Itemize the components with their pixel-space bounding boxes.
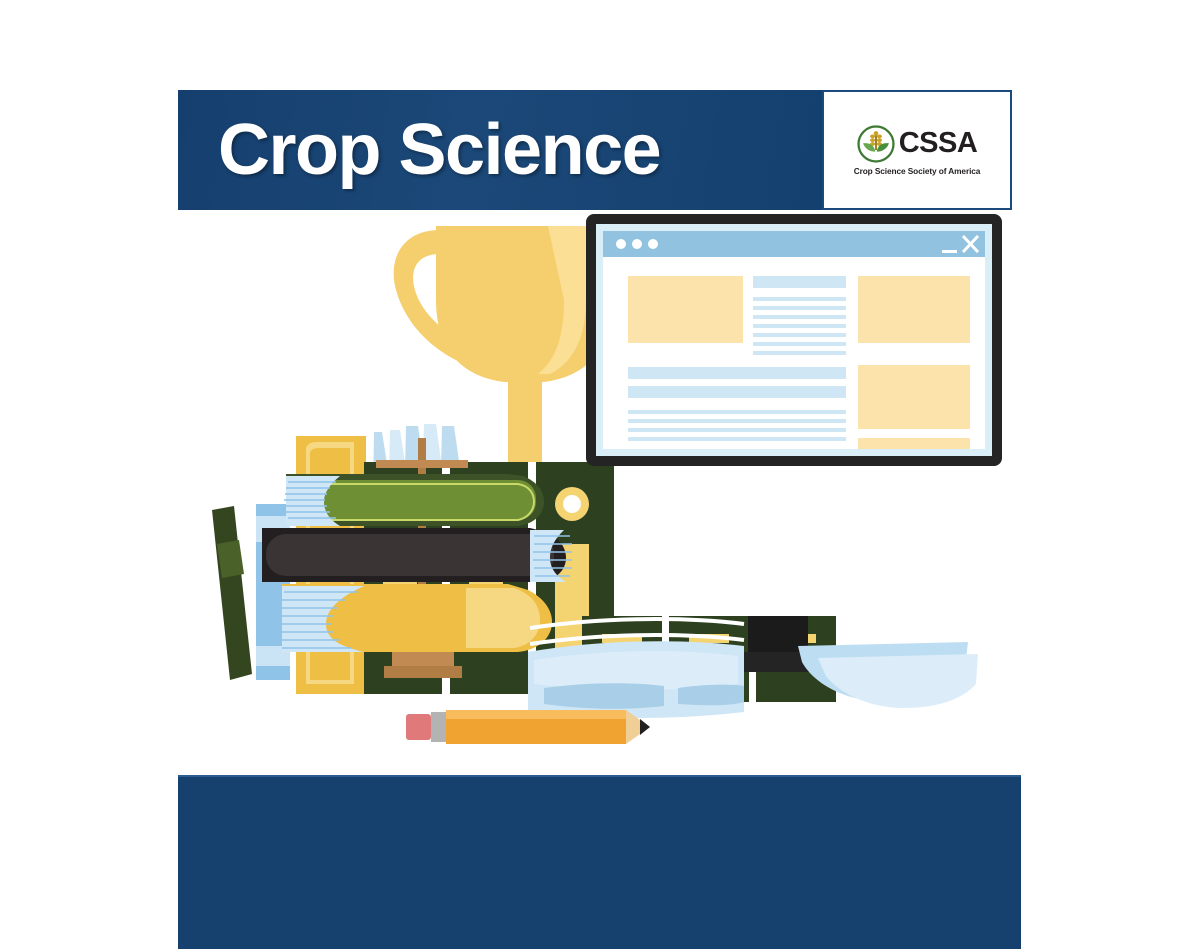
- cssa-logo-row: CSSA: [857, 125, 978, 163]
- content-block-image-3: [858, 365, 970, 429]
- cssa-logo: CSSA Crop Science Society of America: [854, 125, 981, 176]
- stacked-books: [262, 474, 572, 652]
- awards-desk-illustration: [178, 214, 1022, 762]
- content-block-image-2: [858, 276, 970, 343]
- window-dots: [616, 239, 658, 249]
- wheat-and-leaves-circle-icon: [857, 125, 895, 163]
- cssa-tagline: Crop Science Society of America: [854, 166, 981, 176]
- computer-monitor: [586, 214, 1002, 672]
- journal-header-bar: Crop Science: [178, 90, 822, 210]
- pencil-icon: [406, 710, 650, 744]
- footer-band: [178, 775, 1021, 949]
- cssa-acronym: CSSA: [899, 129, 978, 158]
- content-block-image-4: [858, 438, 970, 449]
- window-minimize-icon[interactable]: [942, 250, 957, 253]
- content-block-image-1: [628, 276, 743, 343]
- page-title: Crop Science: [218, 114, 660, 186]
- journal-cover: Crop Science: [0, 0, 1200, 949]
- cssa-logo-box: CSSA Crop Science Society of America: [822, 90, 1012, 210]
- cover-illustration: [178, 214, 1022, 762]
- tilted-green-book: [212, 506, 252, 680]
- footer-text: [178, 777, 1021, 813]
